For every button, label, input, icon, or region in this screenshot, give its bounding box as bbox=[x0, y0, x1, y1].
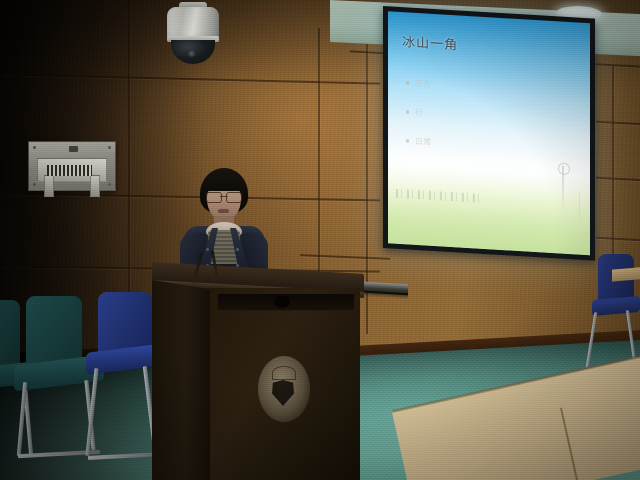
slide-bullet-text: 行 bbox=[415, 107, 423, 118]
circuit-breakers bbox=[47, 165, 92, 176]
slide-wind-turbine-icon bbox=[579, 192, 580, 222]
projection-screen: 冰山一角 三方 行 日常 bbox=[383, 6, 595, 261]
camera-lens-icon bbox=[187, 50, 196, 57]
chair-leg bbox=[17, 382, 27, 456]
wall-breaker-panel bbox=[28, 141, 116, 191]
panel-clip-right bbox=[90, 175, 100, 197]
slide-title: 冰山一角 bbox=[402, 31, 458, 53]
presenter-jacket-button bbox=[206, 248, 209, 251]
panel-screw bbox=[33, 146, 36, 149]
slide-bullet-text: 日常 bbox=[415, 136, 431, 148]
glasses-lens-right bbox=[226, 192, 242, 203]
lectern bbox=[152, 262, 364, 480]
institution-crest-emblem bbox=[258, 356, 310, 422]
chair-leg bbox=[586, 312, 598, 368]
slide-wind-turbine-icon bbox=[562, 166, 564, 212]
slide-bullet-item: 三方 bbox=[406, 77, 578, 98]
panel-screw bbox=[108, 146, 111, 149]
panel-screw bbox=[33, 183, 36, 186]
presenter-mouth bbox=[218, 209, 229, 213]
presenter-bangs bbox=[202, 176, 246, 191]
panel-breaker-bay bbox=[37, 158, 107, 182]
presenter-glasses-icon bbox=[206, 192, 242, 201]
slide-bullet-text: 三方 bbox=[415, 78, 431, 90]
glasses-lens-left bbox=[206, 192, 222, 203]
panel-indicator bbox=[69, 146, 78, 152]
presenter-jacket-button bbox=[236, 248, 239, 251]
slide-surface: 冰山一角 三方 行 日常 bbox=[388, 11, 590, 255]
bullet-dot-icon bbox=[406, 110, 409, 113]
lectern-cable-port bbox=[274, 296, 290, 308]
chair-seat bbox=[592, 296, 640, 316]
slide-bullet-item: 行 bbox=[406, 106, 578, 127]
bullet-dot-icon bbox=[406, 139, 409, 142]
slide-bullet-item: 日常 bbox=[406, 135, 578, 156]
chair-leg-rail bbox=[88, 452, 162, 460]
chair-leg bbox=[85, 368, 98, 456]
emblem-shield-icon bbox=[272, 380, 294, 406]
panel-clip-left bbox=[44, 175, 54, 197]
ceiling-dome-camera bbox=[165, 2, 221, 64]
lecture-hall-photo: 冰山一角 三方 行 日常 bbox=[0, 0, 640, 480]
emblem-crest-top bbox=[272, 366, 296, 380]
bullet-dot-icon bbox=[406, 81, 409, 84]
lectern-side-panel bbox=[152, 280, 214, 480]
slide-background-field bbox=[388, 164, 590, 255]
slide-bullet-list: 三方 行 日常 bbox=[406, 77, 578, 156]
table-right-wall bbox=[612, 266, 640, 281]
panel-screw bbox=[108, 183, 111, 186]
